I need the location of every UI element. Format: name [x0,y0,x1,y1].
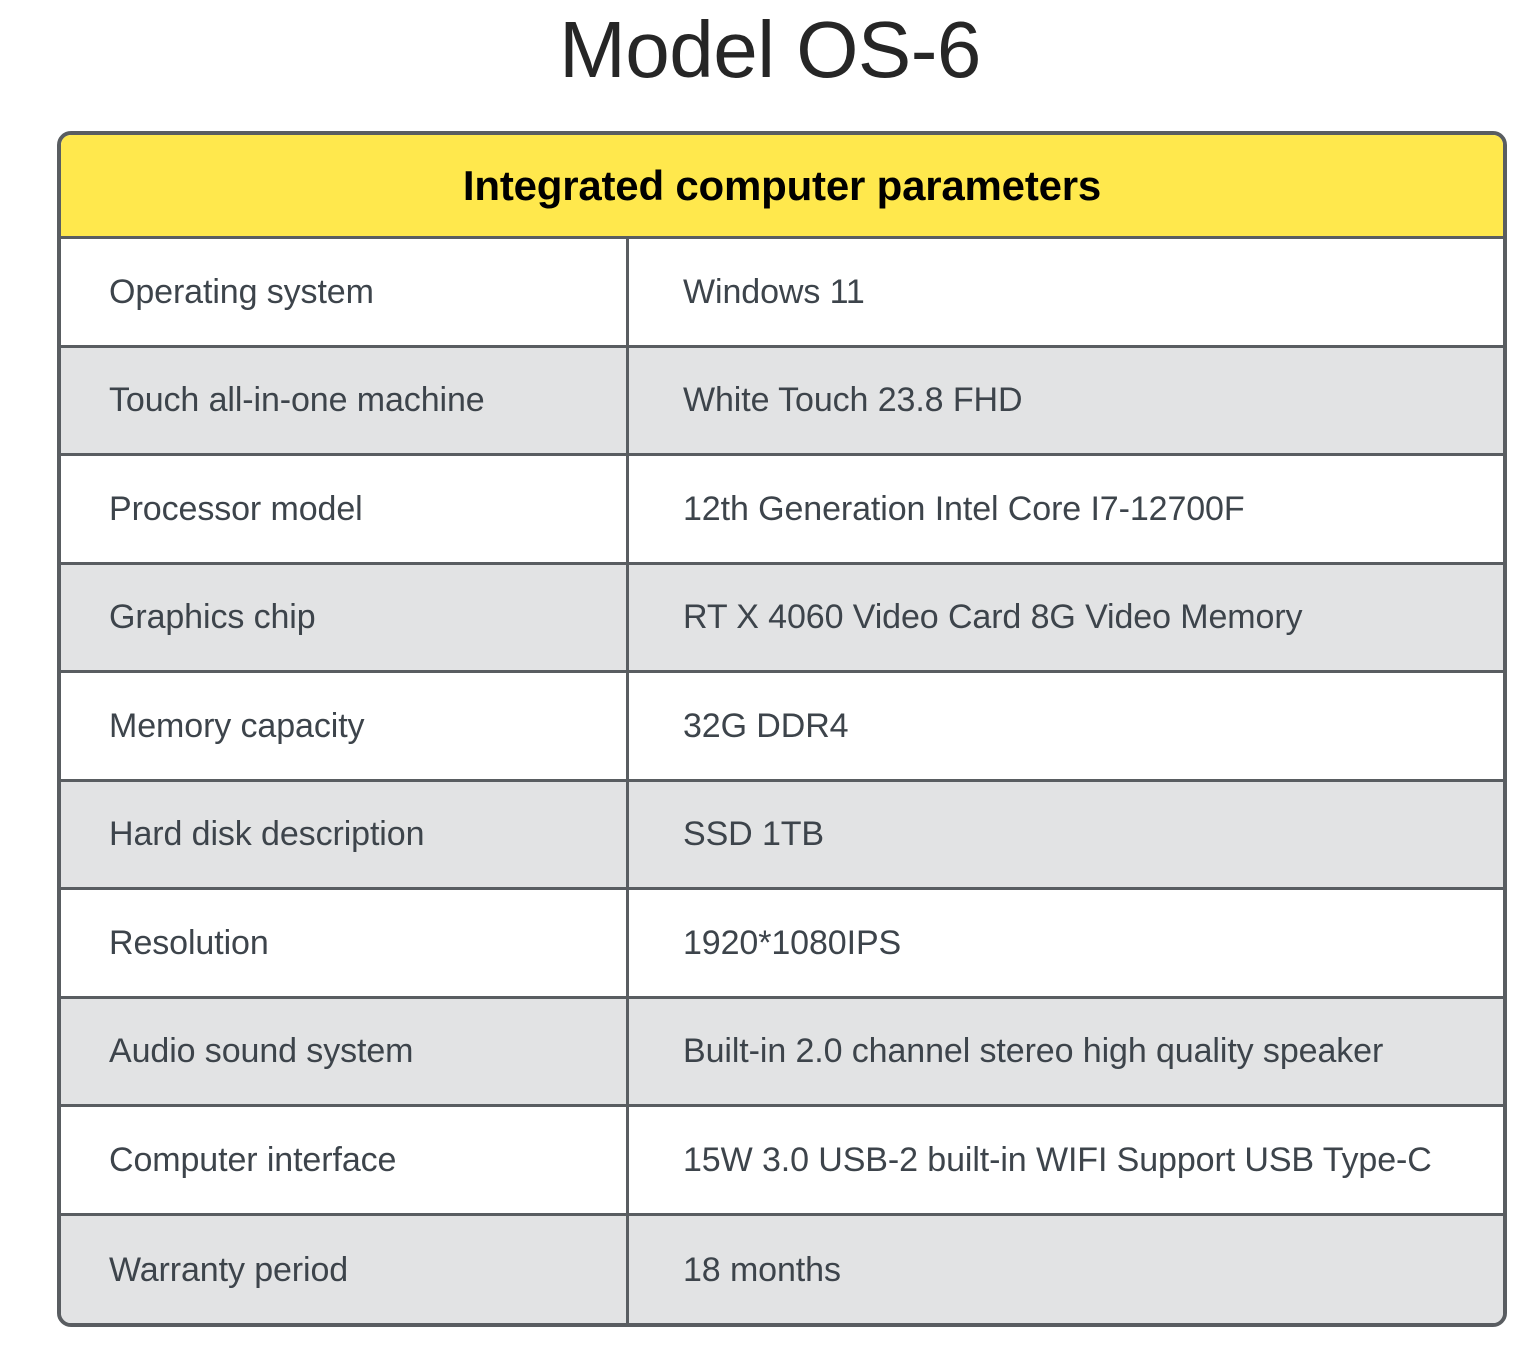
table-cell-value: 1920*1080IPS [629,890,1503,996]
table-cell-label: Audio sound system [61,999,629,1105]
row-value-text: 32G DDR4 [683,706,848,746]
row-label-text: Processor model [109,489,363,529]
table-row: Warranty period 18 months [61,1216,1503,1325]
row-value-text: RT X 4060 Video Card 8G Video Memory [683,597,1302,637]
row-value-text: SSD 1TB [683,814,824,854]
row-value-text: 15W 3.0 USB-2 built-in WIFI Support USB … [683,1140,1432,1180]
table-row: Resolution 1920*1080IPS [61,890,1503,999]
table-row: Audio sound system Built-in 2.0 channel … [61,999,1503,1108]
row-label-text: Resolution [109,923,269,963]
table-cell-label: Computer interface [61,1107,629,1213]
table-cell-label: Resolution [61,890,629,996]
table-body: Operating system Windows 11 Touch all-in… [61,239,1503,1324]
table-row: Hard disk description SSD 1TB [61,782,1503,891]
row-label-text: Touch all-in-one machine [109,380,485,420]
table-cell-label: Processor model [61,456,629,562]
table-row: Operating system Windows 11 [61,239,1503,348]
row-label-text: Warranty period [109,1250,348,1290]
table-row: Touch all-in-one machine White Touch 23.… [61,348,1503,457]
row-value-text: 1920*1080IPS [683,923,901,963]
row-value-text: White Touch 23.8 FHD [683,380,1022,420]
row-label-text: Hard disk description [109,814,424,854]
table-row: Computer interface 15W 3.0 USB-2 built-i… [61,1107,1503,1216]
table-cell-label: Operating system [61,239,629,345]
table-cell-value: 15W 3.0 USB-2 built-in WIFI Support USB … [629,1107,1503,1213]
table-cell-value: Windows 11 [629,239,1503,345]
table-cell-label: Hard disk description [61,782,629,888]
specification-table: Integrated computer parameters Operating… [57,131,1507,1327]
table-row: Processor model 12th Generation Intel Co… [61,456,1503,565]
table-cell-value: 32G DDR4 [629,673,1503,779]
table-cell-label: Warranty period [61,1216,629,1325]
row-label-text: Audio sound system [109,1031,413,1071]
row-value-text: 18 months [683,1250,841,1290]
row-label-text: Operating system [109,272,374,312]
row-label-text: Graphics chip [109,597,316,637]
table-row: Memory capacity 32G DDR4 [61,673,1503,782]
table-header-label: Integrated computer parameters [463,162,1101,210]
table-cell-value: 12th Generation Intel Core I7-12700F [629,456,1503,562]
table-cell-label: Memory capacity [61,673,629,779]
page-title: Model OS-6 [0,0,1540,110]
spec-sheet-page: Model OS-6 Integrated computer parameter… [0,0,1540,1350]
table-cell-value: 18 months [629,1216,1503,1325]
row-label-text: Computer interface [109,1140,396,1180]
table-cell-label: Graphics chip [61,565,629,671]
row-value-text: Windows 11 [683,272,865,312]
table-cell-value: RT X 4060 Video Card 8G Video Memory [629,565,1503,671]
table-cell-value: Built-in 2.0 channel stereo high quality… [629,999,1503,1105]
row-value-text: 12th Generation Intel Core I7-12700F [683,489,1245,529]
table-cell-label: Touch all-in-one machine [61,348,629,454]
row-label-text: Memory capacity [109,706,364,746]
row-value-text: Built-in 2.0 channel stereo high quality… [683,1031,1383,1071]
table-row: Graphics chip RT X 4060 Video Card 8G Vi… [61,565,1503,674]
table-header-band: Integrated computer parameters [61,135,1503,239]
table-cell-value: White Touch 23.8 FHD [629,348,1503,454]
table-cell-value: SSD 1TB [629,782,1503,888]
